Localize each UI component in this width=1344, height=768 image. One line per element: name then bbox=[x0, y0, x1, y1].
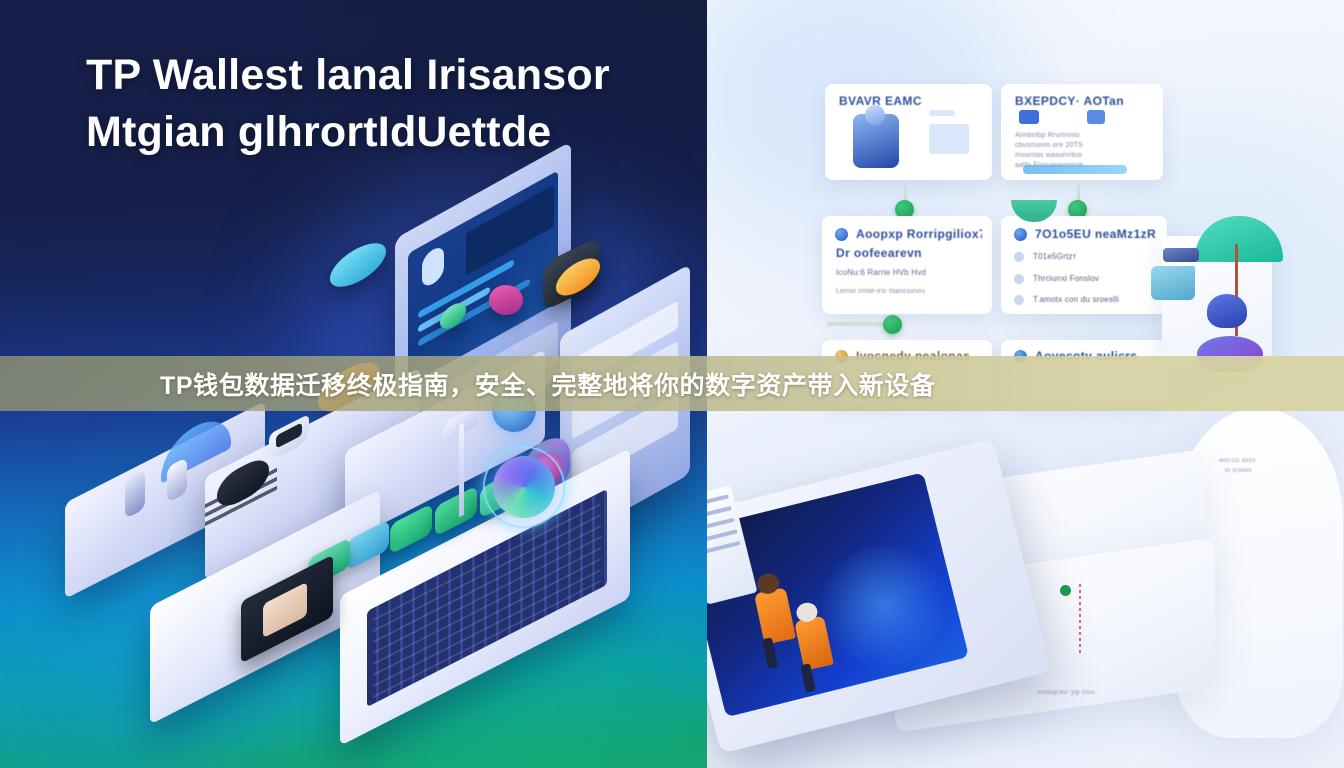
panel-line bbox=[707, 529, 738, 543]
mock-card-cta[interactable] bbox=[1023, 165, 1127, 174]
coin-icon bbox=[489, 285, 523, 315]
ghost-label: 'Vi sroovv bbox=[1223, 468, 1252, 474]
mock-card-row: T.amotx con du sroeslli bbox=[1033, 295, 1157, 304]
mock-card-row: cbvsmonm ore 20TS bbox=[1015, 142, 1153, 149]
mock-card[interactable]: 7O1o5EU neaMz1zR T01e5Grtzт Thrciunxi Fo… bbox=[1001, 216, 1167, 314]
isometric-desk-scene bbox=[55, 430, 555, 760]
mock-card-title: 7O1o5EU neaMz1zR bbox=[1035, 227, 1157, 241]
pitcher-icon bbox=[1151, 266, 1195, 300]
mock-card-title: BXEPDCY· AOTan bbox=[1015, 94, 1153, 108]
screen-avatar bbox=[422, 244, 444, 290]
hero-heading: TP Wallest lanal Irisansor Mtgian glhror… bbox=[86, 47, 646, 161]
globe-icon bbox=[493, 456, 555, 518]
mock-chip bbox=[929, 124, 969, 154]
teal-arc-shape bbox=[1011, 200, 1057, 222]
coin-icon bbox=[330, 234, 386, 295]
shoe-icon bbox=[1207, 294, 1247, 328]
green-status-dot bbox=[883, 315, 902, 334]
hero-heading-line-1: TP Wallest lanal Irisansor bbox=[86, 51, 610, 99]
panel-line bbox=[707, 541, 741, 555]
mock-chip bbox=[929, 110, 955, 116]
mock-card-row: Alinbinbp Rrumnnio bbox=[1015, 132, 1153, 139]
workstation-scene bbox=[707, 440, 1127, 768]
mock-card[interactable]: BVAVR EAMC bbox=[825, 84, 992, 180]
ghost-label: wot-ciz dxzn bbox=[1219, 458, 1256, 464]
mock-card[interactable]: Aoopxp Rorripgiliox7 Dr oofeearevn IcoNu… bbox=[822, 216, 992, 314]
mock-card-row: IcoNu:6 Rarrie HVb Hvd bbox=[836, 268, 982, 277]
mock-card-row: mswnlas wasomrtno bbox=[1015, 152, 1153, 159]
mock-card-row: T01e5Grtzт bbox=[1033, 252, 1157, 261]
bullet-icon bbox=[1014, 274, 1024, 284]
mock-card-row: Leinio nnoe-irsi Ioanciunou bbox=[836, 288, 982, 295]
page-title: TP钱包数据迁移终极指南，安全、完整地将你的数字资产带入新设备 bbox=[160, 366, 936, 402]
mock-chip bbox=[1019, 110, 1039, 124]
mock-card-title: Aoopxp Rorripgiliox7 bbox=[856, 227, 982, 241]
mock-card-title: BVAVR EAMC bbox=[839, 94, 982, 108]
desk-lamp-stand bbox=[459, 423, 464, 518]
bullet-icon bbox=[1014, 252, 1024, 262]
faucet-icon bbox=[1163, 248, 1199, 262]
mock-card[interactable]: BXEPDCY· AOTan Alinbinbp Rrumnnio cbvsmo… bbox=[1001, 84, 1163, 180]
mock-card-subtitle: Dr oofeearevn bbox=[836, 246, 982, 260]
wallet-icon bbox=[1014, 228, 1027, 241]
mock-card-row: Thrciunxi Fonslov bbox=[1033, 274, 1157, 283]
mock-chip bbox=[1087, 110, 1105, 124]
bullet-icon bbox=[1014, 295, 1024, 305]
phone-face-photo bbox=[263, 582, 307, 638]
avatar bbox=[853, 114, 899, 168]
wallet-icon bbox=[835, 228, 848, 241]
overlay-title-band: TP钱包数据迁移终极指南，安全、完整地将你的数字资产带入新设备 bbox=[0, 356, 1344, 411]
banner-canvas: TP Wallest lanal Irisansor Mtgian glhror… bbox=[0, 0, 1344, 768]
